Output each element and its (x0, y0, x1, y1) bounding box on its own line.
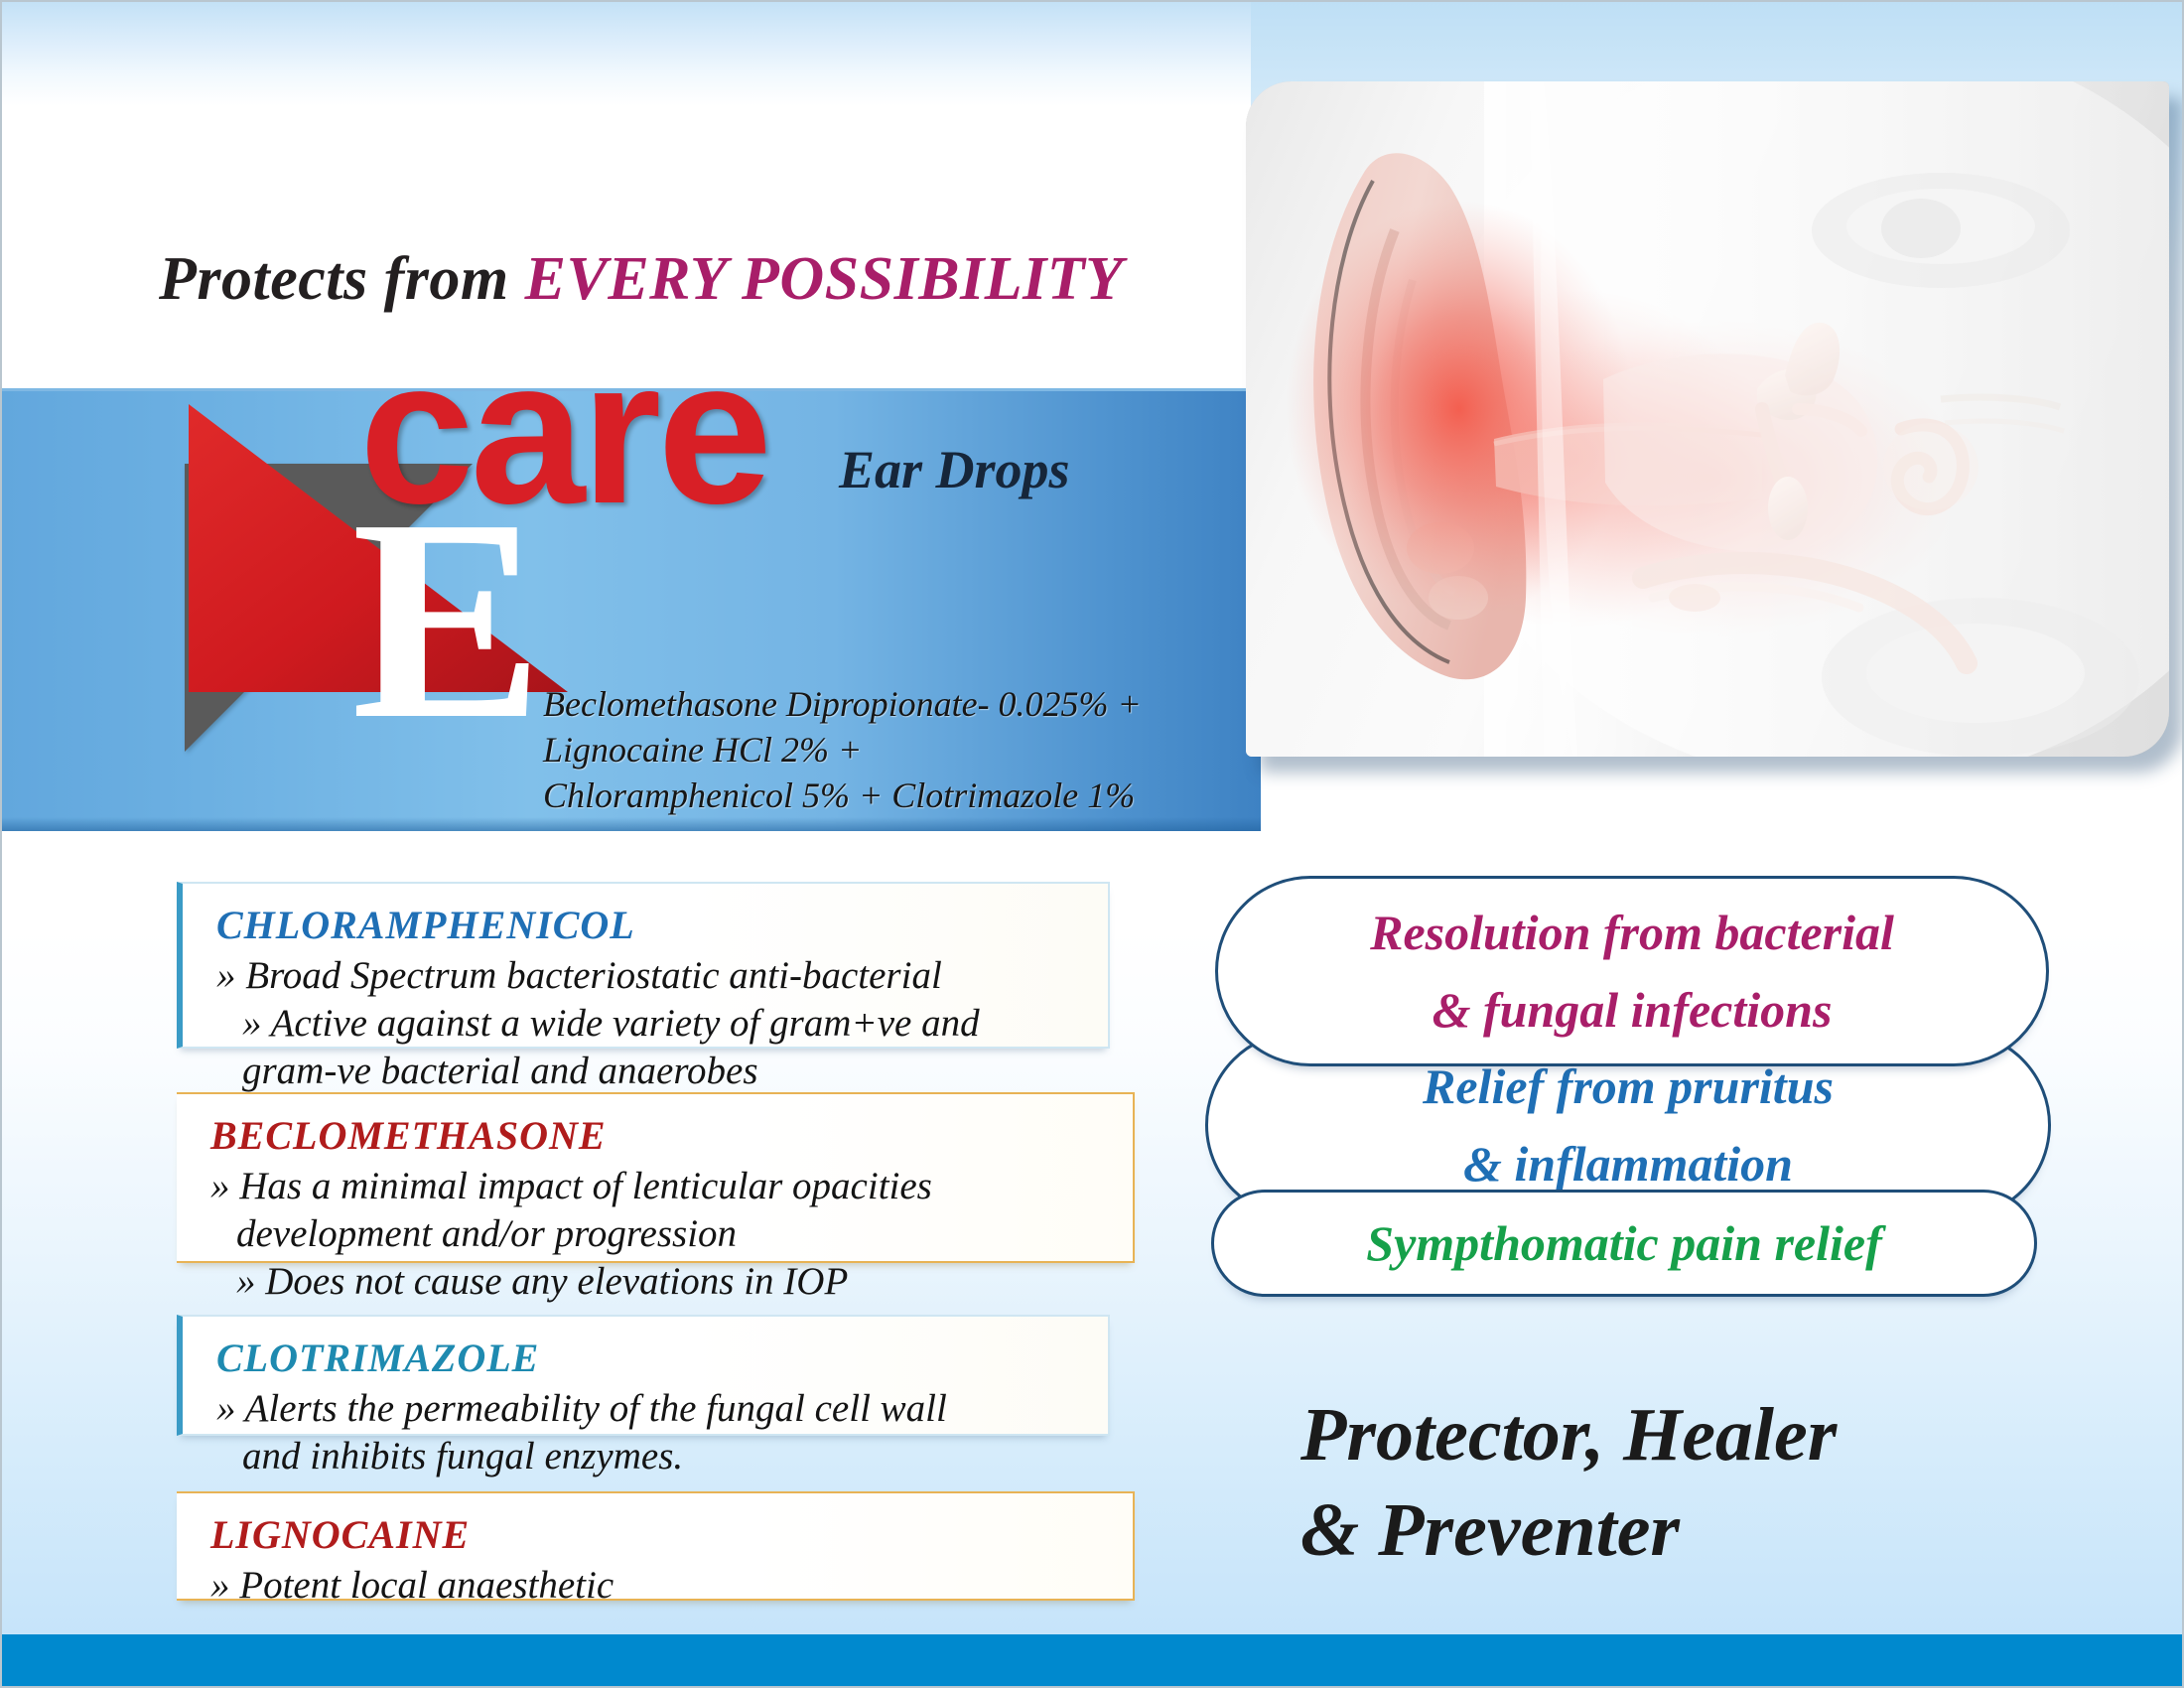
ingredient-points: » Potent local anaesthetic (210, 1562, 1109, 1610)
brand-name-care: care (359, 348, 768, 516)
footer-bar (2, 1634, 2184, 1686)
ingredient-points: » Broad Spectrum bacteriostatic anti-bac… (216, 952, 1084, 1095)
ingredient-box-chloramphenicol: CHLORAMPHENICOL » Broad Spectrum bacteri… (177, 882, 1110, 1049)
tagline-lead: Protects from (159, 245, 525, 313)
ingredient-title: LIGNOCAINE (210, 1511, 1109, 1558)
ear-anatomy-illustration (1246, 81, 2169, 757)
benefit-line-2: & fungal infections (1433, 971, 1833, 1049)
ingredient-box-beclomethasone: BECLOMETHASONE » Has a minimal impact of… (177, 1092, 1135, 1263)
benefit-pill-bacterial-fungal: Resolution from bacterial & fungal infec… (1215, 876, 2049, 1066)
benefit-line-1: Sympthomatic pain relief (1366, 1204, 1881, 1282)
ingredient-box-clotrimazole: CLOTRIMAZOLE » Alerts the permeability o… (177, 1315, 1110, 1436)
ingredient-points: » Has a minimal impact of lenticular opa… (210, 1163, 1109, 1306)
ingredient-title: BECLOMETHASONE (210, 1112, 1109, 1159)
ingredient-title: CHLORAMPHENICOL (216, 902, 1084, 948)
benefit-line-1: Resolution from bacterial (1370, 894, 1894, 971)
product-type-label: Ear Drops (839, 439, 1070, 500)
ingredient-title: CLOTRIMAZOLE (216, 1335, 1084, 1381)
benefit-pill-pain-relief: Sympthomatic pain relief (1211, 1190, 2037, 1297)
ingredient-box-lignocaine: LIGNOCAINE » Potent local anaesthetic (177, 1491, 1135, 1601)
page-tagline: Protects from EVERY POSSIBILITY (159, 244, 1123, 315)
ingredient-points: » Alerts the permeability of the fungal … (216, 1385, 1084, 1480)
ear-anatomy-image (1246, 81, 2169, 757)
advertisement-page: Protects from EVERY POSSIBILITY E care E… (0, 0, 2184, 1688)
closing-slogan: Protector, Healer & Preventer (1300, 1387, 1837, 1578)
composition-text: Beclomethasone Dipropionate- 0.025% + Li… (543, 681, 1142, 818)
tagline-accent: EVERY POSSIBILITY (525, 245, 1124, 313)
